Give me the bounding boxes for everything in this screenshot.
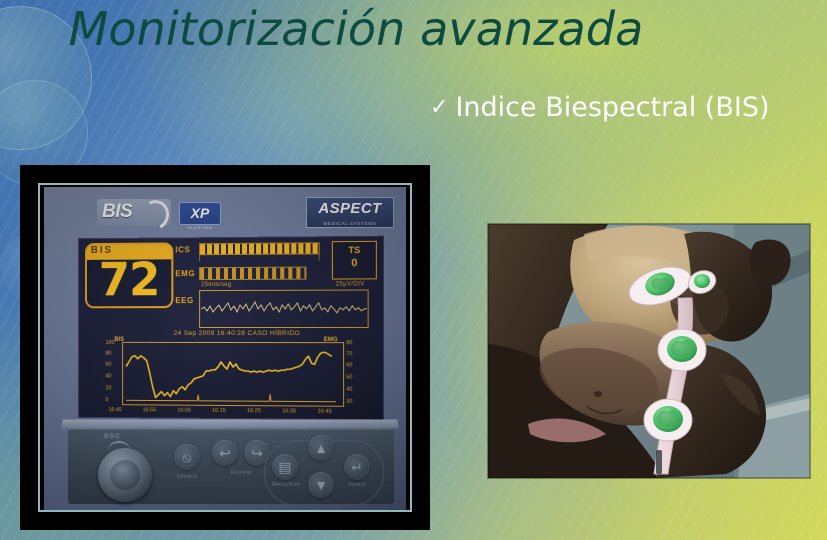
eeg-units-row: 25mm/seg 25µV/DIV	[201, 282, 322, 288]
menu-icon: ▤	[272, 454, 298, 480]
xp-brand-logo: XP PLATFORM	[179, 202, 221, 225]
y-right-tick-3: 50	[346, 374, 352, 380]
silence-button[interactable]: ⦸	[174, 444, 200, 470]
monitor-bezel	[61, 419, 399, 428]
eeg-gain: 25µV/DIV	[336, 281, 365, 287]
trend-plot	[123, 343, 343, 406]
checkmark-icon: ✓	[430, 95, 448, 120]
review-label: Review	[210, 470, 272, 476]
dog-photo-illustration	[488, 224, 810, 478]
up-button[interactable]: ▲	[308, 435, 334, 461]
y-left-tick-4: 20	[106, 385, 112, 391]
y-right-tick-1: 70	[346, 351, 352, 357]
aspect-vendor-sublabel: MEDICAL SYSTEMS	[307, 221, 393, 226]
silence-label: Silence	[164, 474, 210, 480]
bis-brand-logo: BIS	[97, 199, 171, 226]
bis-trend-graph	[122, 342, 344, 407]
bis-monitor-photo: BIS XP PLATFORM ASPECT MEDICAL SYSTEMS B…	[20, 165, 430, 530]
monitor-screen: BIS 72 ICS EMG 25mm/seg 25µV/DIV EEG	[78, 236, 384, 421]
eeg-waveform-box	[199, 290, 369, 328]
bis-monitor-device: BIS XP PLATFORM ASPECT MEDICAL SYSTEMS B…	[44, 187, 406, 510]
y-right-tick-2: 60	[346, 362, 352, 368]
bis-brand-label: BIS	[102, 201, 132, 223]
x-tick-4: 16:25	[247, 408, 261, 414]
x-tick-0: 16:45	[108, 407, 121, 413]
bullet-item-bis: ✓Indice Biespectral (BIS)	[430, 92, 820, 123]
device-logo-row: BIS XP PLATFORM ASPECT MEDICAL SYSTEMS	[44, 187, 406, 235]
menu-exit-button[interactable]: ▤	[272, 454, 298, 480]
ts-value: 0	[333, 257, 376, 269]
bis-value-box: BIS 72	[85, 242, 173, 308]
y-left-tick-5: 0	[106, 397, 109, 403]
review-back-button[interactable]: ↩	[212, 440, 238, 466]
slide-title: Monitorización avanzada	[0, 2, 712, 56]
xp-brand-label: XP	[180, 203, 220, 223]
ts-label: TS	[333, 245, 376, 255]
aspect-vendor-logo: ASPECT MEDICAL SYSTEMS	[306, 197, 394, 228]
y-right-tick-5: 30	[346, 399, 352, 405]
emg-bar-graph	[199, 267, 306, 281]
enter-icon: ↵	[344, 454, 370, 480]
select-label: Select	[334, 482, 380, 488]
eeg-sweep-speed: 25mm/seg	[201, 282, 231, 288]
dsc-label: DSC	[104, 433, 121, 440]
control-panel: DSC ⦸ Silence ↩ ↪ Review ▲	[68, 429, 394, 504]
menu-exit-label: Menu/Exit	[258, 482, 314, 488]
x-tick-2: 16:05	[177, 408, 191, 414]
x-tick-1: 16:55	[143, 407, 157, 413]
mute-icon: ⦸	[174, 444, 200, 470]
y-left-tick-0: 100	[106, 340, 115, 346]
select-button[interactable]: ↵	[344, 454, 370, 480]
y-left-tick-1: 80	[106, 351, 112, 357]
y-right-tick-0: 80	[346, 340, 352, 346]
dsc-knob[interactable]	[98, 448, 152, 502]
x-tick-5: 16:35	[282, 408, 296, 414]
bullet-label: Indice Biespectral (BIS)	[455, 92, 769, 123]
sqi-label: ICS	[175, 245, 190, 254]
bis-swoosh-icon	[137, 196, 173, 233]
y-left-tick-2: 60	[106, 362, 112, 368]
sqi-scale-ticks	[199, 254, 320, 261]
arrow-up-icon: ▲	[308, 435, 334, 461]
y-right-tick-4: 40	[346, 387, 352, 393]
xp-sublabel: PLATFORM	[180, 225, 220, 230]
slide-canvas: Monitorización avanzada ✓Indice Biespect…	[0, 0, 827, 540]
eeg-waveform-trace	[200, 291, 368, 327]
x-tick-3: 16:15	[212, 408, 226, 414]
y-left-tick-3: 40	[106, 373, 112, 379]
emg-label: EMG	[175, 269, 195, 278]
eeg-label: EEG	[175, 296, 194, 305]
ts-box: TS 0	[332, 241, 377, 280]
aspect-vendor-label: ASPECT	[307, 200, 393, 217]
trend-header-text: 24 Sep 2009 16:40:28 CASO HÍBRIDO	[130, 330, 345, 337]
arrow-back-icon: ↩	[212, 440, 238, 466]
sqi-bar-graph	[199, 242, 320, 255]
x-tick-6: 16:45	[318, 409, 332, 415]
dog-with-bis-sensor-photo	[488, 224, 810, 478]
bis-value-number: 72	[87, 255, 171, 303]
